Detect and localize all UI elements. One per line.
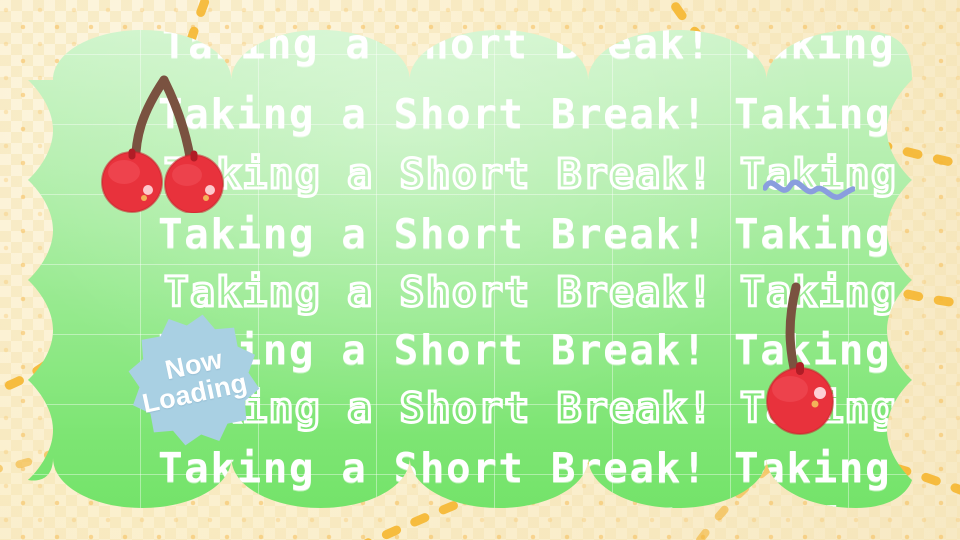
cherry-pair-icon	[92, 68, 242, 213]
cherry-single-icon	[750, 275, 855, 440]
now-loading-badge: Now Loading	[126, 314, 262, 446]
break-message-row: Taking a Short Break! Taking a Short Bre…	[158, 448, 912, 489]
badge-starburst-shape	[126, 314, 262, 446]
break-message-row: Taking a Short Break! Taking a Short Bre…	[158, 214, 912, 255]
squiggle-icon	[763, 170, 855, 210]
break-message-row: Taking a Short Break! Taking a Short Bre…	[158, 94, 912, 135]
